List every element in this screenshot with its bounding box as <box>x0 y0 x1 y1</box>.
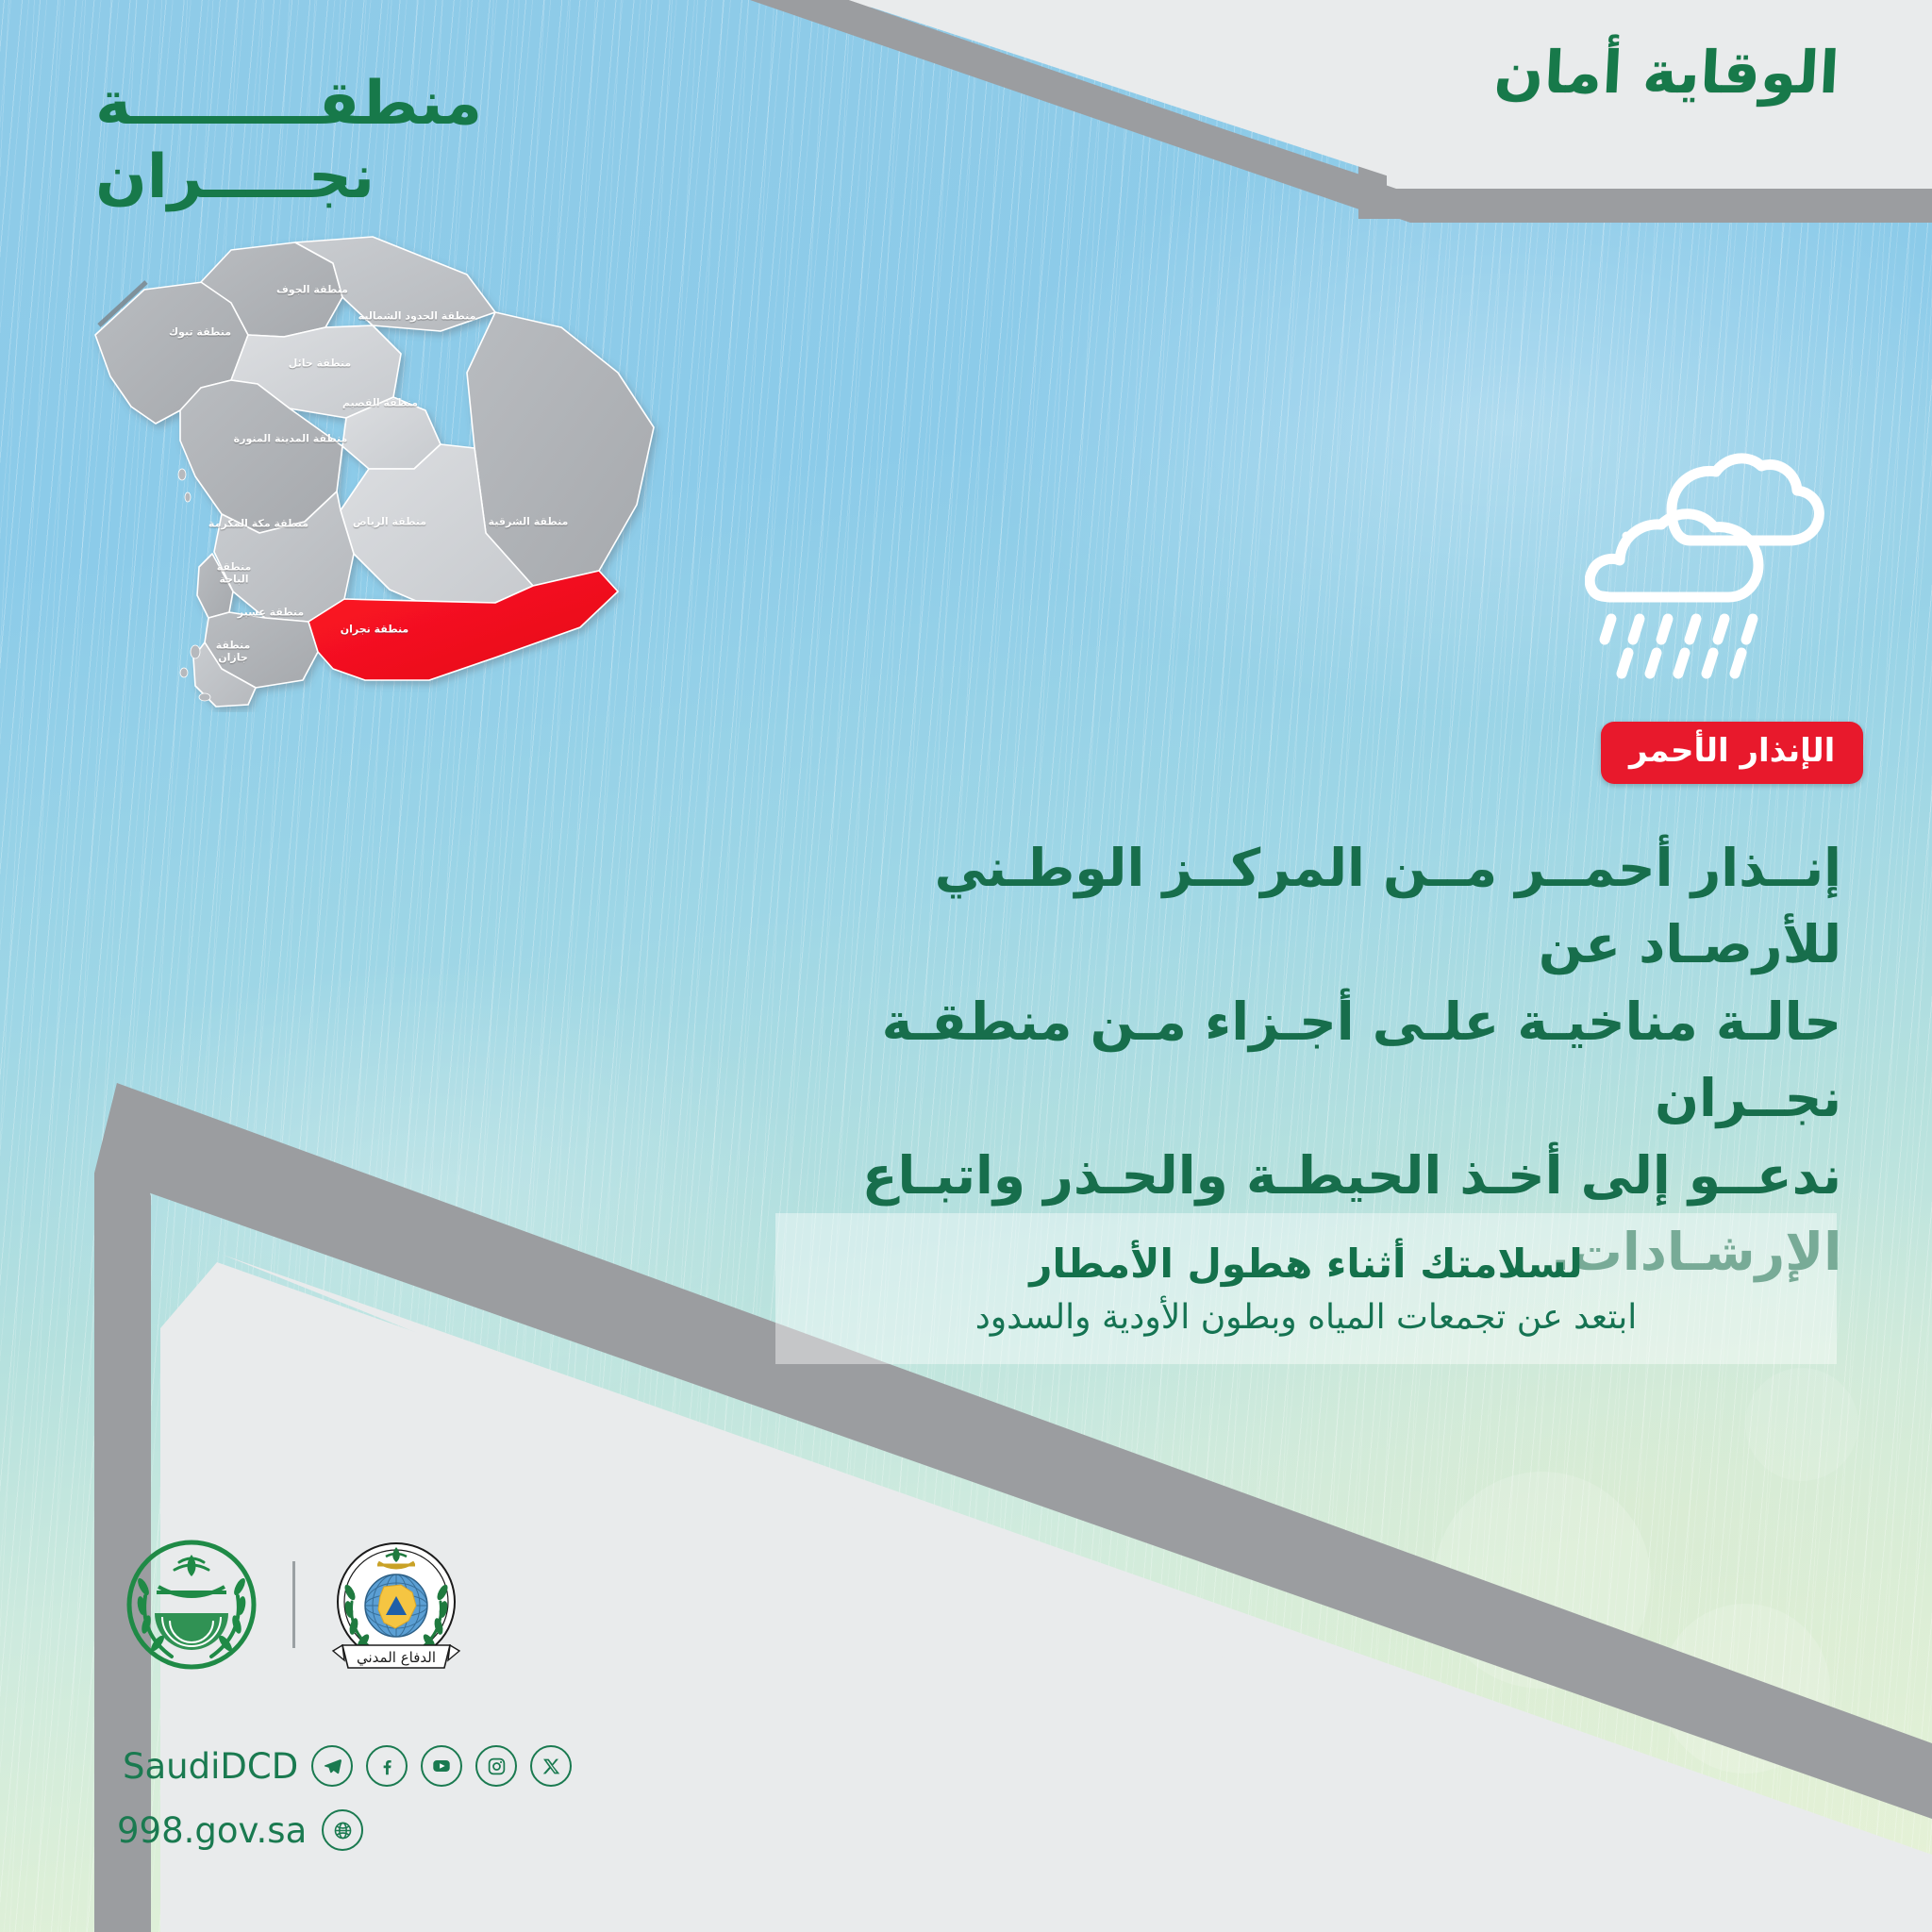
safety-tip-title: لسلامتك أثناء هطول الأمطار <box>1029 1241 1582 1287</box>
page-title: منطقـــــــــة نجـــــران <box>95 74 482 208</box>
title-line-najran: نجـــــران <box>95 147 482 208</box>
social-handle[interactable]: SaudiDCD <box>117 1746 298 1787</box>
alert-body-line-2: حالـة مناخيـة علـى أجـزاء مـن منطقـة نجـ… <box>738 984 1841 1138</box>
ministry-interior-logo <box>121 1534 262 1675</box>
safety-tip-body: ابتعد عن تجمعات المياه وبطون الأودية وال… <box>975 1298 1638 1337</box>
youtube-icon[interactable] <box>421 1745 462 1787</box>
website-link[interactable]: 998.gov.sa <box>117 1809 363 1851</box>
globe-icon <box>322 1809 363 1851</box>
telegram-icon[interactable] <box>311 1745 353 1787</box>
logo-divider <box>292 1561 295 1648</box>
rain-cloud-icon <box>1585 443 1830 679</box>
facebook-icon[interactable] <box>366 1745 408 1787</box>
title-line-region: منطقـــــــــة <box>95 74 482 134</box>
civil-defense-logo: الدفاع المدني <box>325 1534 467 1675</box>
alert-body-line-1: إنــذار أحمــر مــن المركــز الوطـني للأ… <box>738 830 1841 984</box>
website-url[interactable]: 998.gov.sa <box>117 1810 307 1851</box>
map-svg <box>90 222 675 712</box>
footer: الدفاع المدني <box>0 1434 1932 1932</box>
social-links[interactable]: SaudiDCD <box>117 1745 572 1787</box>
saudi-arabia-map[interactable]: منطقة الجوف منطقة الحدود الشمالية منطقة … <box>90 222 675 712</box>
footer-logos: الدفاع المدني <box>121 1534 467 1675</box>
status-badge: الإنذار الأحمر <box>1601 722 1863 784</box>
poster-canvas: منطقـــــــــة نجـــــران الوقاية أمان <box>0 0 1932 1932</box>
brand-calligraphy: الوقاية أمان <box>1492 38 1840 107</box>
safety-tip-box: لسلامتك أثناء هطول الأمطار ابتعد عن تجمع… <box>775 1213 1837 1364</box>
instagram-icon[interactable] <box>475 1745 517 1787</box>
civil-defense-logo-text: الدفاع المدني <box>357 1649 436 1667</box>
x-icon[interactable] <box>530 1745 572 1787</box>
